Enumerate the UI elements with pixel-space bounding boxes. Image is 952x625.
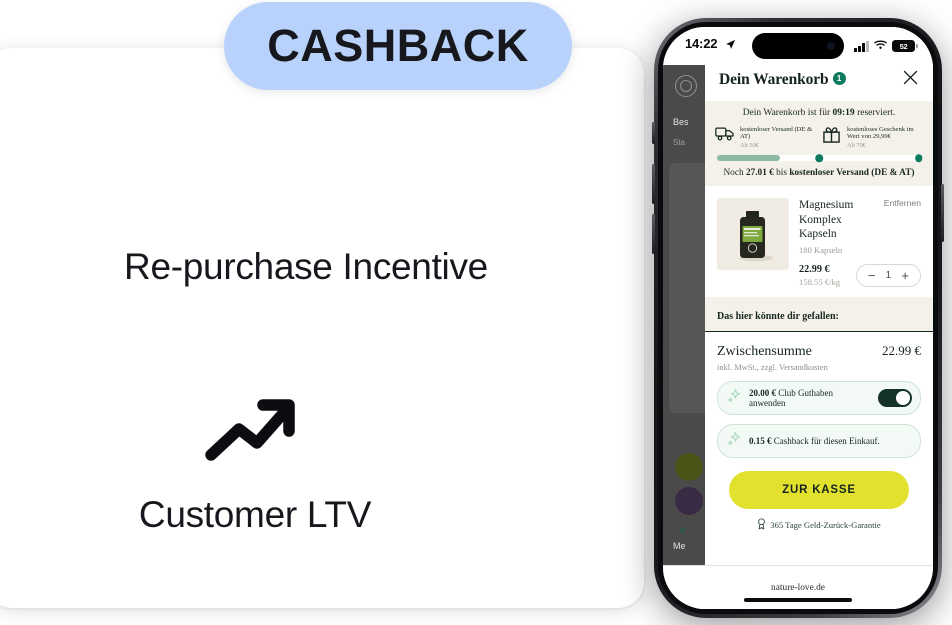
quantity-value: 1 xyxy=(884,270,892,281)
reservation-text: Dein Warenkorb ist für 09:19 reserviert. xyxy=(715,108,923,118)
cashback-label: Cashback für diesen Einkauf. xyxy=(772,436,880,446)
front-camera-icon xyxy=(827,42,835,50)
feature-title: Re-purchase Incentive xyxy=(0,246,626,288)
gift-icon xyxy=(822,126,842,144)
cashback-offer: 0.15 € Cashback für diesen Einkauf. xyxy=(717,424,921,458)
cart-title: Dein Warenkorb xyxy=(719,71,829,89)
cart-item-count-badge: 1 xyxy=(833,72,846,85)
reservation-suffix: reserviert. xyxy=(855,108,896,118)
guarantee-text: 365 Tage Geld-Zurück-Garantie xyxy=(770,520,880,530)
club-credit-offer[interactable]: 20.00 € Club Guthaben anwenden xyxy=(717,381,921,415)
wifi-icon xyxy=(874,37,887,55)
reservation-timer: 09:19 xyxy=(833,108,855,118)
browser-bottom-bar: nature-love.de xyxy=(663,565,933,609)
screenshot-root: Re-purchase Incentive Customer LTV CASHB… xyxy=(0,0,952,625)
volume-down-button[interactable] xyxy=(652,214,655,254)
cart-title-group: Dein Warenkorb 1 xyxy=(719,71,846,89)
cashback-amount: 0.15 € xyxy=(749,436,772,446)
progress-milestone-1 xyxy=(815,155,823,163)
background-swatch-olive xyxy=(675,453,703,481)
sparkle-icon xyxy=(727,388,742,408)
progress-fill xyxy=(717,155,780,161)
trending-up-arrow-icon xyxy=(0,393,516,465)
magnesium-bottle-image[interactable] xyxy=(717,198,789,270)
product-name[interactable]: Magnesium Komplex Kapseln xyxy=(799,198,878,241)
perks-list: kostenloser Versand (DE & AT) Ab 50€ xyxy=(715,126,923,149)
quantity-stepper[interactable]: − 1 + xyxy=(856,264,921,287)
perk-free-shipping-threshold: Ab 50€ xyxy=(740,142,816,149)
progress-track xyxy=(717,155,921,161)
reservation-prefix: Dein Warenkorb ist für xyxy=(743,108,833,118)
star-icon: ★ xyxy=(677,523,688,537)
product-price: 22.99 € xyxy=(799,264,840,275)
quantity-increase-button[interactable]: + xyxy=(901,269,909,282)
cart-promo-block: Dein Warenkorb ist für 09:19 reserviert. xyxy=(705,101,933,186)
cart-totals: Zwischensumme 22.99 € inkl. MwSt., zzgl.… xyxy=(705,332,933,532)
truck-icon xyxy=(715,126,735,144)
status-bar: 14:22 xyxy=(663,27,933,65)
status-bar-time: 14:22 xyxy=(685,36,717,51)
volume-up-button[interactable] xyxy=(652,164,655,204)
recommendations-heading: Das hier könnte dir gefallen: xyxy=(705,297,933,332)
goal-prefix: Noch xyxy=(723,168,745,178)
signal-bars-icon xyxy=(854,41,869,52)
perk-free-gift-text: kostenloses Geschenk im Wert von 29,99€ … xyxy=(847,126,923,149)
goal-amount: 27.01 € xyxy=(746,168,774,178)
dynamic-island xyxy=(752,33,844,59)
home-indicator[interactable] xyxy=(744,598,852,603)
perk-free-shipping-text: kostenloser Versand (DE & AT) Ab 50€ xyxy=(740,126,816,149)
cart-line-item-top: Magnesium Komplex Kapseln Entfernen xyxy=(799,198,921,241)
close-x-icon[interactable] xyxy=(902,69,919,91)
phone-frame: Bes Sta ★ Me Dein Warenkorb xyxy=(654,18,942,618)
product-variant: 180 Kapseln xyxy=(799,245,921,255)
cart-drawer: Dein Warenkorb 1 Dein Warenkorb ist für xyxy=(705,27,933,609)
progress-milestone-2 xyxy=(915,155,923,163)
perk-free-gift-label: kostenloses Geschenk im Wert von 29,99€ xyxy=(847,126,923,141)
cart-line-item-body: Magnesium Komplex Kapseln Entfernen 180 … xyxy=(799,198,921,286)
quantity-decrease-button[interactable]: − xyxy=(868,269,876,282)
cart-line-item-bottom: 22.99 € 158.55 €/kg − 1 + xyxy=(799,264,921,287)
perk-free-shipping-label: kostenloser Versand (DE & AT) xyxy=(740,126,816,141)
cashback-badge-label: CASHBACK xyxy=(267,20,529,72)
product-price-group: 22.99 € 158.55 €/kg xyxy=(799,264,840,287)
phone-mockup: Bes Sta ★ Me Dein Warenkorb xyxy=(654,18,942,618)
progress-goal-text: Noch 27.01 € bis kostenloser Versand (DE… xyxy=(715,168,923,178)
background-text-line1: Bes xyxy=(673,117,689,127)
mute-switch[interactable] xyxy=(652,122,655,144)
remove-item-button[interactable]: Entfernen xyxy=(884,198,921,208)
subtotal-row: Zwischensumme 22.99 € xyxy=(717,343,921,360)
goal-target: kostenloser Versand (DE & AT) xyxy=(789,168,914,178)
cashback-badge: CASHBACK xyxy=(224,2,572,90)
perk-free-gift: kostenloses Geschenk im Wert von 29,99€ … xyxy=(822,126,923,149)
location-arrow-icon xyxy=(725,37,736,55)
feature-subtitle: Customer LTV xyxy=(0,494,524,536)
power-button[interactable] xyxy=(941,184,944,242)
battery-level-label: 52 xyxy=(900,42,908,51)
club-credit-toggle[interactable] xyxy=(878,389,912,407)
recommendations-heading-label: Das hier könnte dir gefallen: xyxy=(717,311,839,322)
medal-icon xyxy=(757,518,766,532)
background-text-line2: Sta xyxy=(673,138,685,147)
background-text-line3: Me xyxy=(673,541,686,551)
perk-free-gift-threshold: Ab 70€ xyxy=(847,142,923,149)
sparkle-icon xyxy=(727,431,742,451)
left-feature-card: Re-purchase Incentive Customer LTV xyxy=(0,48,644,608)
browser-domain[interactable]: nature-love.de xyxy=(771,583,825,593)
nature-love-logo-icon xyxy=(675,75,697,97)
background-swatch-purple xyxy=(675,487,703,515)
cashback-text: 0.15 € Cashback für diesen Einkauf. xyxy=(749,436,912,446)
goal-middle: bis xyxy=(774,168,790,178)
subtotal-note: inkl. MwSt., zzgl. Versandkosten xyxy=(717,363,921,372)
cart-line-item: Magnesium Komplex Kapseln Entfernen 180 … xyxy=(705,186,933,296)
subtotal-value: 22.99 € xyxy=(882,343,921,359)
battery-icon: 52 xyxy=(892,40,915,52)
phone-screen: Bes Sta ★ Me Dein Warenkorb xyxy=(663,27,933,609)
status-bar-indicators: 52 xyxy=(854,37,915,55)
club-credit-text: 20.00 € Club Guthaben anwenden xyxy=(749,388,871,408)
club-credit-amount: 20.00 € xyxy=(749,388,776,398)
perk-free-shipping: kostenloser Versand (DE & AT) Ab 50€ xyxy=(715,126,816,149)
checkout-button[interactable]: ZUR KASSE xyxy=(729,471,909,509)
guarantee-note: 365 Tage Geld-Zurück-Garantie xyxy=(717,518,921,532)
product-unit-price: 158.55 €/kg xyxy=(799,277,840,287)
subtotal-label: Zwischensumme xyxy=(717,344,812,360)
